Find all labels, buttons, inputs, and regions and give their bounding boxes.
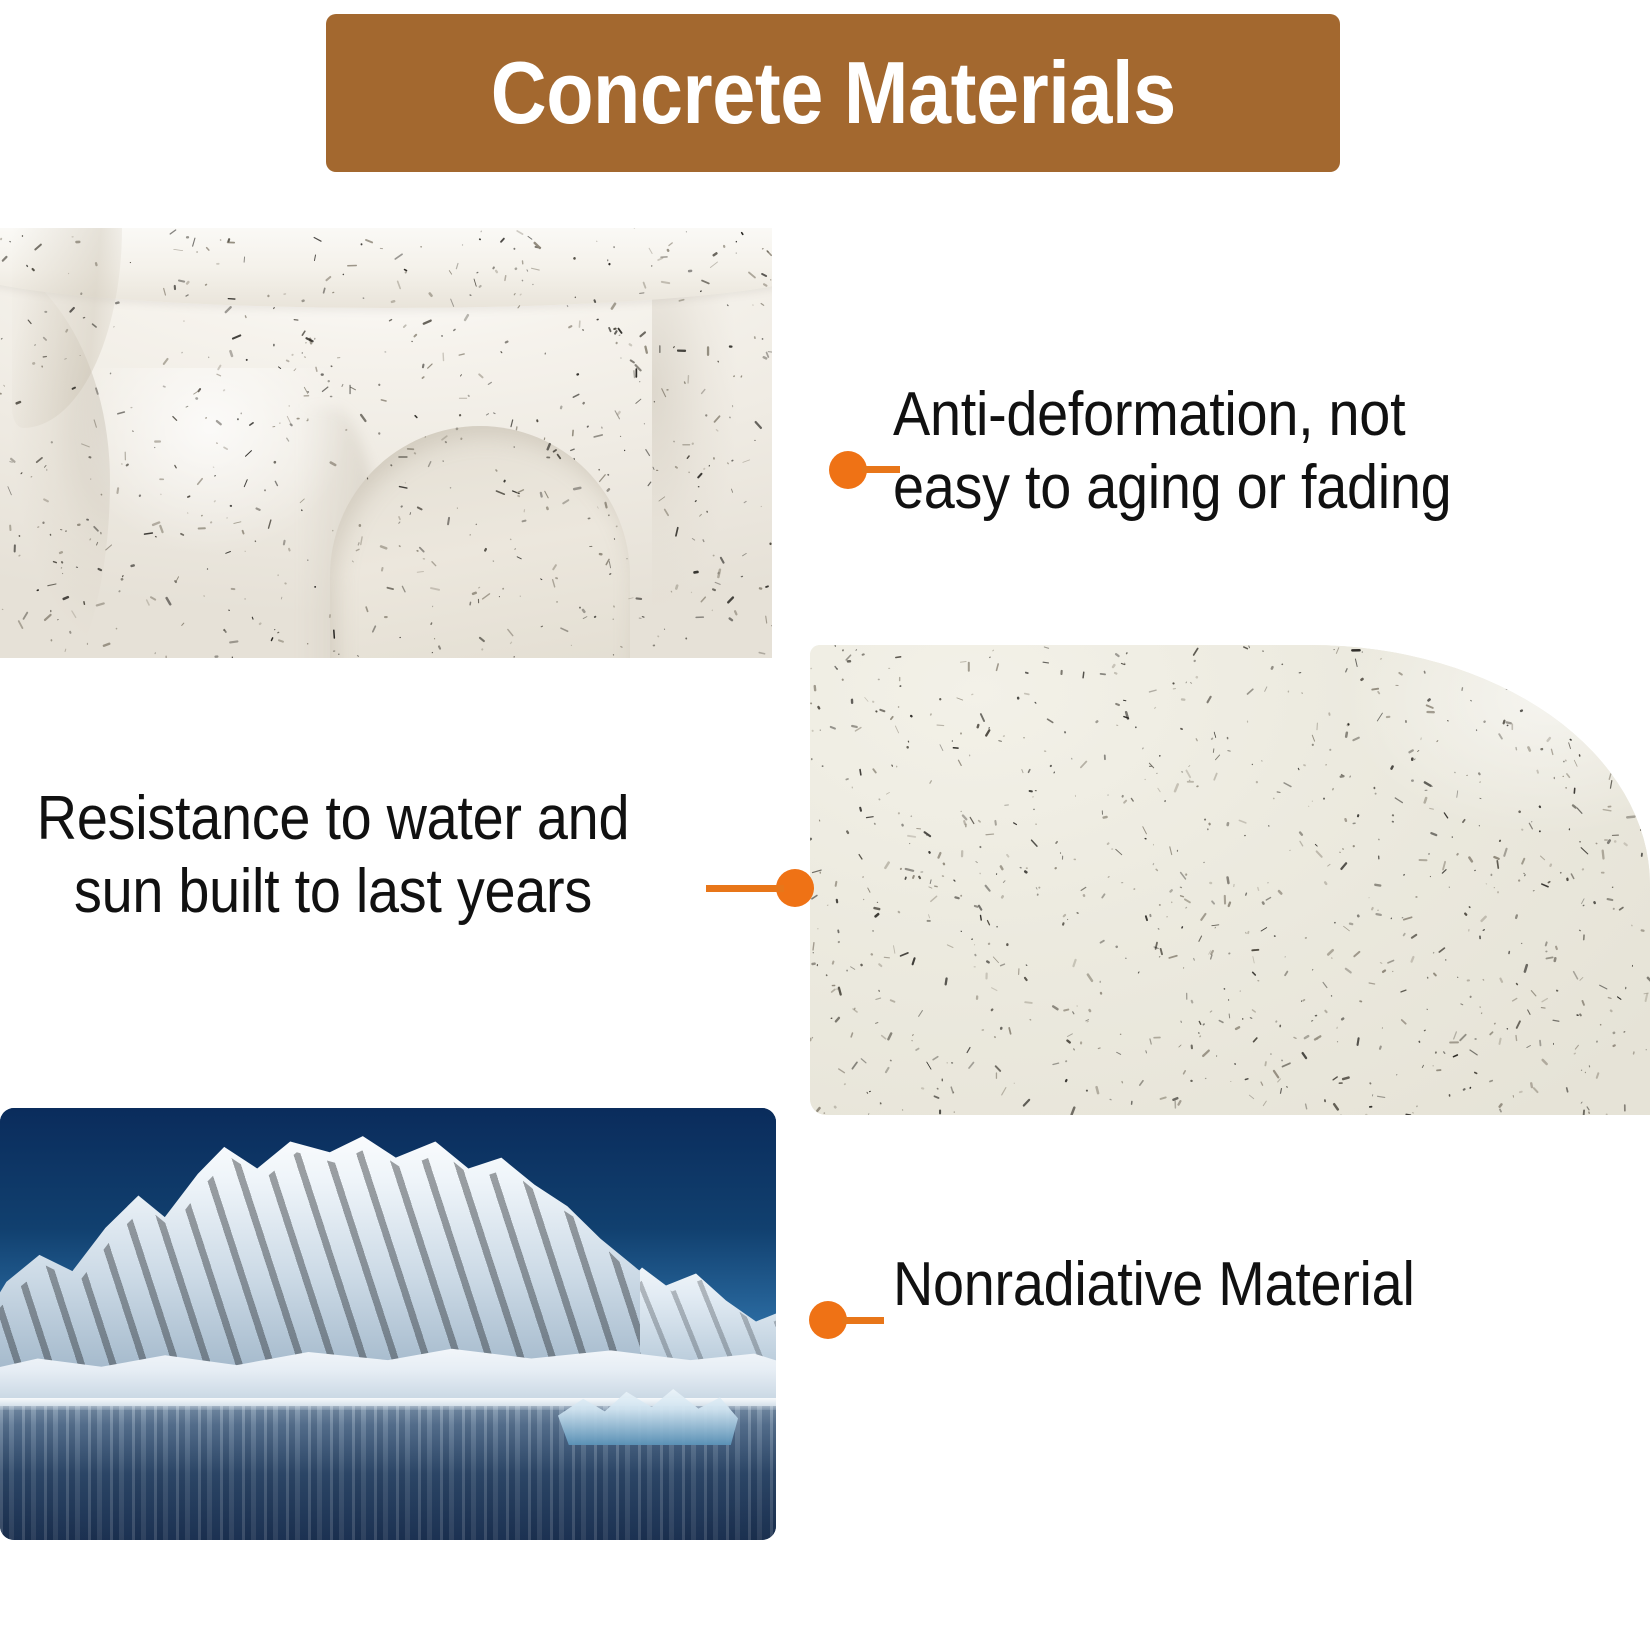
leader-line <box>842 1317 884 1324</box>
feature-label-nonradiative: Nonradiative Material <box>893 1248 1523 1321</box>
feature-label-anti-deformation: Anti-deformation, not easy to aging or f… <box>893 378 1469 524</box>
page-title: Concrete Materials <box>491 49 1176 137</box>
product-image-concrete-table <box>0 228 772 658</box>
mountain-vignette <box>0 1108 776 1540</box>
concrete-table-right-flare <box>652 258 772 658</box>
header-banner: Concrete Materials <box>326 14 1340 172</box>
product-image-mountains <box>0 1108 776 1540</box>
product-image-concrete-texture <box>810 645 1650 1115</box>
feature-label-resistance: Resistance to water and sun built to las… <box>36 782 630 928</box>
concrete-table-highlight <box>70 368 350 658</box>
concrete-texture-sheen <box>1210 645 1650 945</box>
leader-line <box>706 885 784 892</box>
